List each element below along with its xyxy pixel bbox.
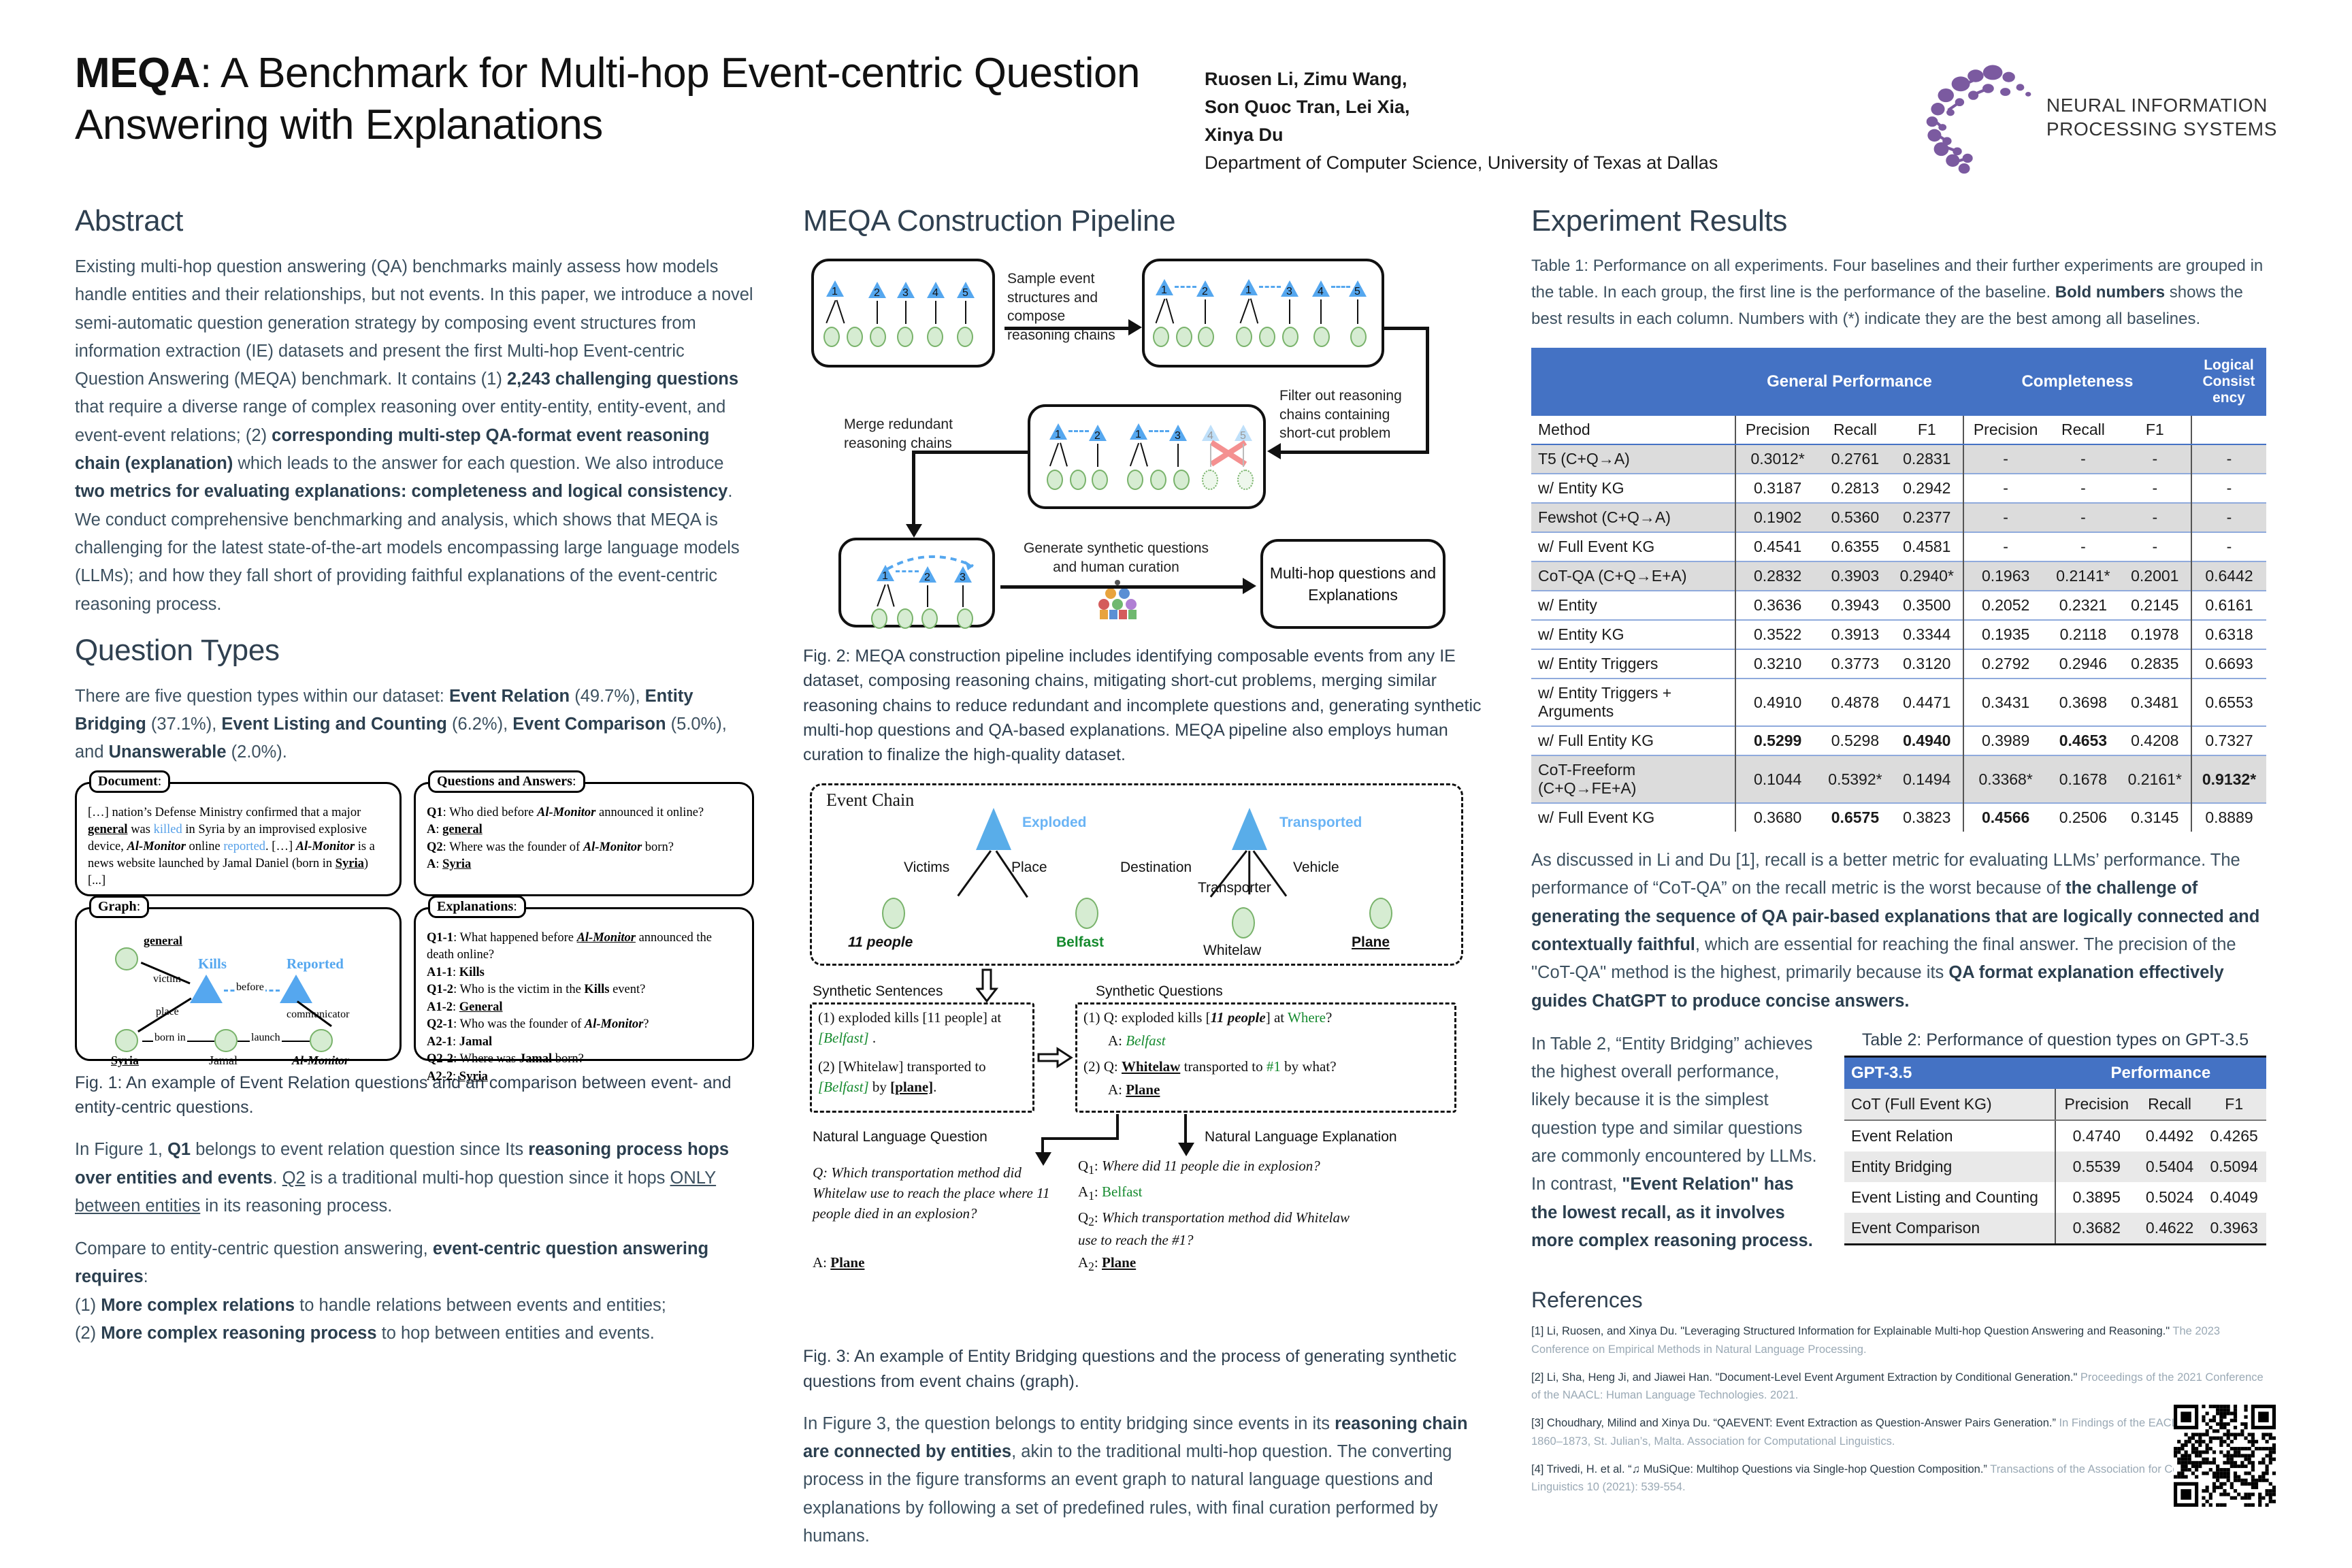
table-1-cell: - xyxy=(1963,532,2047,561)
question-types-text: There are five question types within our… xyxy=(75,683,755,767)
explanations-box: Explanations: Q1-1: What happened before… xyxy=(414,907,754,1061)
table-1-cell: 0.2052 xyxy=(1963,591,2047,620)
table-2-label: Entity Bridging xyxy=(1844,1151,2055,1182)
table-1-col-0: Method xyxy=(1531,416,1735,444)
table-1-cell: 0.3903 xyxy=(1819,561,1891,591)
expl-item: A2-2: Syria xyxy=(427,1068,741,1086)
nl-explanation-a1: A1: Belfast xyxy=(1078,1182,1143,1205)
synthetic-questions-label: Synthetic Questions xyxy=(1096,983,1223,1000)
table-1: General PerformanceCompletenessLogical C… xyxy=(1531,348,2266,832)
entity-label-plane: Plane xyxy=(1352,934,1390,951)
table-1-cell: 0.6318 xyxy=(2191,620,2266,649)
graph-edge-label-place: place xyxy=(156,1006,179,1018)
table-1-cell: 0.6355 xyxy=(1819,532,1891,561)
question-types-heading: Question Types xyxy=(75,634,755,668)
entity-label-whitelaw: Whitelaw xyxy=(1203,943,1261,959)
table-1-cell: 0.3431 xyxy=(1963,679,2047,726)
table-1-cell: 0.3120 xyxy=(1891,649,1963,679)
pipeline-step-1-label: Sample event structures and compose reas… xyxy=(1007,269,1130,345)
nl-answer-text: A: Plane xyxy=(813,1253,864,1273)
table-2-caption: Table 2: Performance of question types o… xyxy=(1844,1030,2266,1050)
author-block: Ruosen Li, Zimu Wang, Son Quoc Tran, Lei… xyxy=(1205,48,1831,177)
table-1-cell: - xyxy=(2191,503,2266,532)
group-completeness: Completeness xyxy=(1963,348,2191,416)
expl-item: A1-1: Kills xyxy=(427,964,741,982)
pipeline-arrow-2a xyxy=(1384,327,1429,330)
table-1-cell: 0.3636 xyxy=(1735,591,1819,620)
table-2-cell: 0.4492 xyxy=(2138,1120,2202,1151)
table-1-cell: - xyxy=(2047,444,2119,474)
graph-event-kills-icon xyxy=(190,975,223,1003)
expl-item: Q1-1: What happened before Al-Monitor an… xyxy=(427,930,741,964)
table-2-cell: 0.3895 xyxy=(2055,1182,2138,1213)
table-1-cell: - xyxy=(2047,503,2119,532)
table-2-cell: 0.3682 xyxy=(2055,1213,2138,1245)
pipeline-heading: MEQA Construction Pipeline xyxy=(803,204,1484,238)
table-1-method: w/ Entity Triggers + Arguments xyxy=(1531,679,1735,726)
table-row: w/ Entity Triggers0.32100.37730.31200.27… xyxy=(1531,649,2266,679)
table-1-method: w/ Full Event KG xyxy=(1531,803,1735,832)
table-1-col-3: F1 xyxy=(1891,416,1963,444)
table-1-cell: 0.9132* xyxy=(2191,755,2266,803)
table-1-col-7 xyxy=(2191,416,2266,444)
expl-item: A1-2: General xyxy=(427,999,741,1017)
table-1-cell: 0.2321 xyxy=(2047,591,2119,620)
table-2-label: Event Listing and Counting xyxy=(1844,1182,2055,1213)
table-1-method: w/ Entity KG xyxy=(1531,474,1735,503)
table-row: w/ Full Entity KG0.52990.52980.49400.398… xyxy=(1531,726,2266,755)
table-2-cell: 0.4049 xyxy=(2202,1182,2266,1213)
table-2-cell: 0.4265 xyxy=(2202,1120,2266,1151)
table-1-method: w/ Entity Triggers xyxy=(1531,649,1735,679)
table-row: Event Listing and Counting0.38950.50240.… xyxy=(1844,1182,2266,1213)
poster-header: MEQA: A Benchmark for Multi-hop Event-ce… xyxy=(0,0,2352,204)
authors-line-2: Son Quoc Tran, Lei Xia, xyxy=(1205,93,1831,121)
graph-node-almonitor xyxy=(310,1029,333,1052)
nl-question-label: Natural Language Question xyxy=(813,1129,987,1145)
table-1-cell: 0.4940 xyxy=(1891,726,1963,755)
event-chain-title: Event Chain xyxy=(826,790,914,811)
doc-general: general xyxy=(88,823,128,836)
table-1-method: w/ Entity xyxy=(1531,591,1735,620)
entity-label-11-people: 11 people xyxy=(848,934,913,951)
table-1-cell: 0.3187 xyxy=(1735,474,1819,503)
table-1-caption: Table 1: Performance on all experiments.… xyxy=(1531,253,2266,333)
table-1-cell: 0.4208 xyxy=(2119,726,2191,755)
nl-explanation-label: Natural Language Explanation xyxy=(1205,1129,1397,1145)
table-2-label: Event Relation xyxy=(1844,1120,2055,1151)
table-1-cell: 0.2761 xyxy=(1819,444,1891,474)
figure-3-caption: Fig. 3: An example of Entity Bridging qu… xyxy=(803,1344,1484,1394)
poster-columns: Abstract Existing multi-hop question ans… xyxy=(0,204,2352,1565)
qt-0-pct: (49.7%), xyxy=(574,687,640,706)
table-1-cell: 0.2161* xyxy=(2119,755,2191,803)
graph-box-label: Graph: xyxy=(89,896,149,918)
table-1-cell: 0.2145 xyxy=(2119,591,2191,620)
table-1-cell: 0.3368* xyxy=(1963,755,2047,803)
table-1-col-4: Precision xyxy=(1963,416,2047,444)
qt-0-name: Event Relation xyxy=(449,687,570,706)
table-1-cell: - xyxy=(2191,532,2266,561)
graph-node-general xyxy=(115,947,138,970)
title-rest: : A Benchmark for Multi-hop Event-centri… xyxy=(75,50,1140,148)
table-row: T5 (C+Q→A)0.3012*0.27610.2831---- xyxy=(1531,444,2266,474)
pipeline-box-filter: 1 2 1 3 4 5 xyxy=(1028,404,1266,509)
table-1-cell: 0.3210 xyxy=(1735,649,1819,679)
figure-2-pipeline: 1 2 3 4 5 Sample event structures and co… xyxy=(803,253,1484,634)
table-1-cell: 0.2792 xyxy=(1963,649,2047,679)
column-right: Experiment Results Table 1: Performance … xyxy=(1531,204,2266,1565)
table-row: Event Comparison0.36820.46220.3963 xyxy=(1844,1213,2266,1245)
table-2-cell: 0.5539 xyxy=(2055,1151,2138,1182)
page-title: MEQA: A Benchmark for Multi-hop Event-ce… xyxy=(75,48,1205,150)
table-1-cell: 0.6575 xyxy=(1819,803,1891,832)
table-1-cell: - xyxy=(2119,532,2191,561)
reference-item: [3] Choudhary, Milind and Xinya Du. “QAE… xyxy=(1531,1414,2266,1450)
table-1-cell: 0.1963 xyxy=(1963,561,2047,591)
reference-item: [1] Li, Ruosen, and Xinya Du. "Leveragin… xyxy=(1531,1322,2266,1358)
synthetic-answer-2: A: Plane xyxy=(1108,1080,1160,1100)
table-row: CoT-Freeform (C+Q→FE+A)0.10440.5392*0.14… xyxy=(1531,755,2266,803)
graph-edge-label-launch: launch xyxy=(250,1032,282,1044)
doc-reported: reported xyxy=(223,840,265,853)
table-1-method: w/ Full Entity KG xyxy=(1531,726,1735,755)
graph-edge-label-before: before xyxy=(235,981,265,994)
table-1-cell: - xyxy=(1963,503,2047,532)
table-1-cell: 0.8889 xyxy=(2191,803,2266,832)
table-1-cell: - xyxy=(2119,444,2191,474)
synthetic-sentence-2: (2) [Whitelaw] transported to [Belfast] … xyxy=(818,1057,1030,1098)
authors-line-1: Ruosen Li, Zimu Wang, xyxy=(1205,65,1831,93)
table-1-col-6: F1 xyxy=(2119,416,2191,444)
neurips-swirl-icon xyxy=(1925,60,2040,174)
table-1-cell: 0.2141* xyxy=(2047,561,2119,591)
logo-line-1: NEURAL INFORMATION xyxy=(2046,93,2277,117)
table-row: Fewshot (C+Q→A)0.19020.53600.2377---- xyxy=(1531,503,2266,532)
column-left: Abstract Existing multi-hop question ans… xyxy=(75,204,755,1565)
table-row: w/ Entity Triggers + Arguments0.49100.48… xyxy=(1531,679,2266,726)
table-2-subcol-3: F1 xyxy=(2202,1089,2266,1120)
graph-label-general: general xyxy=(144,934,182,948)
graph-label-syria: Syria xyxy=(111,1053,139,1068)
table-2-subcol-2: Recall xyxy=(2138,1089,2202,1120)
table-1-cell: 0.3344 xyxy=(1891,620,1963,649)
entity-node-11-people xyxy=(882,898,905,929)
reference-item: [2] Li, Sha, Heng Ji, and Jiawei Han. "D… xyxy=(1531,1369,2266,1405)
references-list: [1] Li, Ruosen, and Xinya Du. "Leveragin… xyxy=(1531,1322,2266,1497)
synthetic-answer-1: A: Belfast xyxy=(1108,1031,1166,1051)
doc-syria: Syria xyxy=(336,857,364,870)
table-1-method: CoT-QA (C+Q→E+A) xyxy=(1531,561,1735,591)
table-row: w/ Full Event KG0.36800.65750.38230.4566… xyxy=(1531,803,2266,832)
pipeline-arrow-1 xyxy=(1004,327,1131,330)
graph-label-reported: Reported xyxy=(287,955,344,973)
pipeline-step-2-label: Filter out reasoning chains containing s… xyxy=(1279,387,1429,443)
edge-label-victims: Victims xyxy=(904,860,949,876)
graph-edge-label-born-in: born in xyxy=(153,1032,187,1044)
table-1-cell: 0.6442 xyxy=(2191,561,2266,591)
table-1-cell: 0.2942 xyxy=(1891,474,1963,503)
event-transported-icon xyxy=(1232,808,1267,850)
table-2-header: GPT-3.5Performance xyxy=(1844,1056,2266,1089)
chain-down-arrow-icon xyxy=(976,968,999,1004)
table-2-discussion: In Table 2, “Entity Bridging” achieves t… xyxy=(1531,1030,1817,1255)
explanations-box-label: Explanations: xyxy=(428,896,526,918)
table-row: CoT-QA (C+Q→E+A)0.28320.39030.2940*0.196… xyxy=(1531,561,2266,591)
doc-killed: killed xyxy=(154,823,182,836)
qt-4-name: Unanswerable xyxy=(109,742,227,762)
table-1-cell: 0.3145 xyxy=(2119,803,2191,832)
graph-edge-label-victim: victim xyxy=(153,973,181,985)
document-box-label: Document: xyxy=(89,770,170,793)
graph-event-reported-icon xyxy=(280,975,312,1003)
qa-item: Q1: Who died before Al-Monitor announced… xyxy=(427,804,741,822)
transform-arrow-icon xyxy=(1037,1046,1074,1069)
table-1-cell: 0.1678 xyxy=(2047,755,2119,803)
nl-explanation-q2: Q2: Which transportation method did Whit… xyxy=(1078,1208,1371,1251)
qt-3-name: Event Comparison xyxy=(512,715,666,734)
table-1-cell: 0.5392* xyxy=(1819,755,1891,803)
poster-root: MEQA: A Benchmark for Multi-hop Event-ce… xyxy=(0,0,2352,1568)
table-1-cell: 0.6161 xyxy=(2191,591,2266,620)
pipeline-arrow-3a xyxy=(912,451,1029,454)
authors-line-3: Xinya Du xyxy=(1205,121,1831,149)
expl-item: Q1-2: Who is the victim in the Kills eve… xyxy=(427,981,741,999)
table-1-cell: 0.1494 xyxy=(1891,755,1963,803)
event-transported-label: Transported xyxy=(1279,815,1362,831)
qt-1-pct: (37.1%), xyxy=(151,715,216,734)
table-row: w/ Entity KG0.31870.28130.2942---- xyxy=(1531,474,2266,503)
pipeline-box-merge: 1 2 3 xyxy=(838,538,995,627)
title-acronym: MEQA xyxy=(75,50,200,97)
group-logical-consistency: Logical Consist ency xyxy=(2191,348,2266,416)
pipeline-arrowhead-1 xyxy=(1128,319,1142,336)
table-1-cell: 0.1044 xyxy=(1735,755,1819,803)
figure-2-caption: Fig. 2: MEQA construction pipeline inclu… xyxy=(803,644,1484,767)
table-1-cell: 0.4566 xyxy=(1963,803,2047,832)
table-1-cell: 0.6693 xyxy=(2191,649,2266,679)
synthetic-sentence-1: (1) exploded kills [11 people] at [Belfa… xyxy=(818,1008,1029,1049)
pipeline-box-sample: 1 2 3 4 5 xyxy=(811,259,995,367)
qt-2-pct: (6.2%), xyxy=(452,715,508,734)
table-2-cell: 0.5094 xyxy=(2202,1151,2266,1182)
table-1-cell: - xyxy=(1963,474,2047,503)
table-1-method: CoT-Freeform (C+Q→FE+A) xyxy=(1531,755,1735,803)
table-row: Entity Bridging0.55390.54040.5094 xyxy=(1844,1151,2266,1182)
table-2-cell: 0.5024 xyxy=(2138,1182,2202,1213)
qt-intro: There are five question types within our… xyxy=(75,687,444,706)
col1-para-1: In Figure 1, Q1 belongs to event relatio… xyxy=(75,1136,755,1220)
pipeline-output-label: Multi-hop questions and Explanations xyxy=(1263,562,1443,606)
table-1-cell: 0.2001 xyxy=(2119,561,2191,591)
graph-label-kills: Kills xyxy=(198,955,227,973)
table-1-cell: 0.4471 xyxy=(1891,679,1963,726)
graph-label-almonitor: Al-Monitor xyxy=(292,1053,349,1068)
table-1-cell: - xyxy=(1963,444,2047,474)
title-block: MEQA: A Benchmark for Multi-hop Event-ce… xyxy=(75,48,1205,150)
table-1-cell: 0.3773 xyxy=(1819,649,1891,679)
table-1-cell: - xyxy=(2119,474,2191,503)
doc-almonitor-1: Al-Monitor xyxy=(127,840,186,853)
table-1-cell: 0.2835 xyxy=(2119,649,2191,679)
table-2-cell: 0.4622 xyxy=(2138,1213,2202,1245)
table-1-cell: 0.4541 xyxy=(1735,532,1819,561)
table-row: Event Relation0.47400.44920.4265 xyxy=(1844,1120,2266,1151)
abstract-heading: Abstract xyxy=(75,204,755,238)
table-1-cell: 0.5360 xyxy=(1819,503,1891,532)
figure-3: Event Chain Exploded Transported Victims… xyxy=(803,783,1484,1335)
table-1-cell: 0.4581 xyxy=(1891,532,1963,561)
expl-item: Q2-1: Who was the founder of Al-Monitor? xyxy=(427,1016,741,1034)
pipeline-step-3-label: Merge redundant reasoning chains xyxy=(844,415,980,453)
doc-almonitor-2: Al-Monitor xyxy=(296,840,355,853)
table-2-subheader: CoT (Full Event KG)PrecisionRecallF1 xyxy=(1844,1089,2266,1120)
table-1-col-1: Precision xyxy=(1735,416,1819,444)
table-1-cell: 0.1978 xyxy=(2119,620,2191,649)
table-1-method: Fewshot (C+Q→A) xyxy=(1531,503,1735,532)
table-1-cell: - xyxy=(2191,474,2266,503)
nl-explanation-a2: A2: Plane xyxy=(1078,1253,1136,1275)
table-1-cell: 0.2506 xyxy=(2047,803,2119,832)
qr-code[interactable] xyxy=(2174,1405,2276,1507)
document-text: […] nation’s Defense Ministry confirmed … xyxy=(88,804,389,889)
table-1-cell: 0.2813 xyxy=(1819,474,1891,503)
table-1-cell: 0.2831 xyxy=(1891,444,1963,474)
table-1-cell: 0.3522 xyxy=(1735,620,1819,649)
pipeline-arrow-4 xyxy=(1000,585,1245,589)
entity-node-plane xyxy=(1369,898,1392,929)
column-middle: MEQA Construction Pipeline 1 2 3 4 5 xyxy=(803,204,1484,1565)
edge-label-vehicle: Vehicle xyxy=(1293,860,1339,876)
table-1-method: w/ Entity KG xyxy=(1531,620,1735,649)
edge-label-destination: Destination xyxy=(1120,860,1192,876)
table-1-cell: 0.3698 xyxy=(2047,679,2119,726)
table-1-cell: 0.7327 xyxy=(2191,726,2266,755)
table-1-col-2: Recall xyxy=(1819,416,1891,444)
event-exploded-icon xyxy=(976,808,1011,850)
pipeline-step-4-label: Generate synthetic questions and human c… xyxy=(1021,539,1211,576)
table-1-cell: 0.4653 xyxy=(2047,726,2119,755)
references-heading: References xyxy=(1531,1288,2266,1313)
qa-item: A: Syria xyxy=(427,856,741,874)
graph-edge-label-communicator: communicator xyxy=(287,1009,349,1021)
pipeline-arrowhead-3 xyxy=(906,524,922,538)
table-2-cell: 0.5404 xyxy=(2138,1151,2202,1182)
table-1-cell: 0.2832 xyxy=(1735,561,1819,591)
table-1-col-5: Recall xyxy=(2047,416,2119,444)
pipeline-arrowhead-4 xyxy=(1243,578,1256,594)
table-1-cell: 0.3943 xyxy=(1819,591,1891,620)
table-1-cell: 0.1935 xyxy=(1963,620,2047,649)
synthetic-sentences-label: Synthetic Sentences xyxy=(813,983,943,1000)
table-1-cell: 0.5298 xyxy=(1819,726,1891,755)
table-1-cell: - xyxy=(2047,532,2119,561)
table-2-section: In Table 2, “Entity Bridging” achieves t… xyxy=(1531,1030,2266,1270)
edge-label-transporter: Transporter xyxy=(1198,880,1271,896)
table-1-cell: 0.3913 xyxy=(1819,620,1891,649)
table-1-cell: 0.3823 xyxy=(1891,803,1963,832)
affiliation: Department of Computer Science, Universi… xyxy=(1205,149,1831,177)
nl-question-text: Q: Which transportation method did White… xyxy=(813,1163,1071,1224)
qa-list: Q1: Who died before Al-Monitor announced… xyxy=(427,804,741,874)
results-heading: Experiment Results xyxy=(1531,204,2266,238)
qa-box: Questions and Answers: Q1: Who died befo… xyxy=(414,782,754,896)
reference-item: [4] Trivedi, H. et al. “♫ MuSiQue: Multi… xyxy=(1531,1460,2266,1497)
graph-label-jamal: Jamal xyxy=(209,1053,238,1068)
abstract-text: Existing multi-hop question answering (Q… xyxy=(75,253,755,619)
table-1-cell: 0.3012* xyxy=(1735,444,1819,474)
qa-item: A: general xyxy=(427,821,741,839)
graph-box: Graph: general Kills Reported victim pla… xyxy=(75,907,402,1061)
pipeline-box-output: Multi-hop questions and Explanations xyxy=(1260,539,1445,629)
shortcut-cross-icon xyxy=(1206,438,1254,468)
graph-node-syria xyxy=(115,1029,138,1052)
table-1-method: T5 (C+Q→A) xyxy=(1531,444,1735,474)
table-1-cell: 0.1902 xyxy=(1735,503,1819,532)
table-row: w/ Entity KG0.35220.39130.33440.19350.21… xyxy=(1531,620,2266,649)
table-1-cell: 0.3989 xyxy=(1963,726,2047,755)
results-discussion: As discussed in Li and Du [1], recall is… xyxy=(1531,847,2266,1015)
table-2-cell: 0.3963 xyxy=(2202,1213,2266,1245)
event-exploded-label: Exploded xyxy=(1022,815,1087,831)
table-2-model: GPT-3.5 xyxy=(1844,1056,2055,1089)
entity-node-whitelaw xyxy=(1232,907,1255,938)
expl-item: Q2-2: Where was Jamal born? xyxy=(427,1051,741,1068)
table-row: w/ Entity0.36360.39430.35000.20520.23210… xyxy=(1531,591,2266,620)
table-2: GPT-3.5PerformanceCoT (Full Event KG)Pre… xyxy=(1844,1056,2266,1245)
synthetic-question-1: (1) Q: exploded kills [11 people] at Whe… xyxy=(1083,1008,1332,1028)
table-1-cell: - xyxy=(2119,503,2191,532)
table-2-label: Event Comparison xyxy=(1844,1213,2055,1245)
neurips-logo: NEURAL INFORMATION PROCESSING SYSTEMS xyxy=(1831,48,2277,174)
table-2-subcol-0: CoT (Full Event KG) xyxy=(1844,1089,2055,1120)
table-1-column-header: MethodPrecisionRecallF1PrecisionRecallF1 xyxy=(1531,416,2266,444)
table-1-cell: - xyxy=(2191,444,2266,474)
table-1-cell: 0.6553 xyxy=(2191,679,2266,726)
qt-2-name: Event Listing and Counting xyxy=(221,715,446,734)
table-1-cell: 0.5299 xyxy=(1735,726,1819,755)
table-1-cell: 0.3481 xyxy=(2119,679,2191,726)
nl-explanation-q1: Q1: Where did 11 people die in explosion… xyxy=(1078,1156,1320,1179)
event-entity-graph: general Kills Reported victim place befo… xyxy=(88,930,389,1073)
group-general-performance: General Performance xyxy=(1735,348,1963,416)
qt-4-pct: (2.0%). xyxy=(231,742,287,762)
entity-node-belfast xyxy=(1075,898,1098,929)
figure-1: Document: […] nation’s Defense Ministry … xyxy=(75,782,755,1061)
table-1-cell: 0.2940* xyxy=(1891,561,1963,591)
figure-3-discussion: In Figure 3, the question belongs to ent… xyxy=(803,1410,1484,1550)
pipeline-arrow-3b xyxy=(912,451,915,525)
table-1-cell: 0.3500 xyxy=(1891,591,1963,620)
logo-line-2: PROCESSING SYSTEMS xyxy=(2046,117,2277,141)
graph-node-jamal xyxy=(214,1029,238,1052)
table-1-cell: 0.3680 xyxy=(1735,803,1819,832)
table-2-perf: Performance xyxy=(2055,1056,2266,1089)
pipeline-arrow-2c xyxy=(1279,451,1429,454)
table-2-cell: 0.4740 xyxy=(2055,1120,2138,1151)
explanations-list: Q1-1: What happened before Al-Monitor an… xyxy=(427,930,741,1086)
qa-item: Q2: Where was the founder of Al-Monitor … xyxy=(427,839,741,857)
pipeline-box-compose: 1 2 1 3 4 5 xyxy=(1142,259,1384,367)
document-box: Document: […] nation’s Defense Ministry … xyxy=(75,782,402,896)
qa-box-label: Questions and Answers: xyxy=(428,770,585,793)
table-2-subcol-1: Precision xyxy=(2055,1089,2138,1120)
col1-para-2: Compare to entity-centric question answe… xyxy=(75,1235,755,1347)
table-1-cell: 0.4878 xyxy=(1819,679,1891,726)
edge-label-place: Place xyxy=(1011,860,1047,876)
table-row: w/ Full Event KG0.45410.63550.4581---- xyxy=(1531,532,2266,561)
table-1-cell: 0.2377 xyxy=(1891,503,1963,532)
